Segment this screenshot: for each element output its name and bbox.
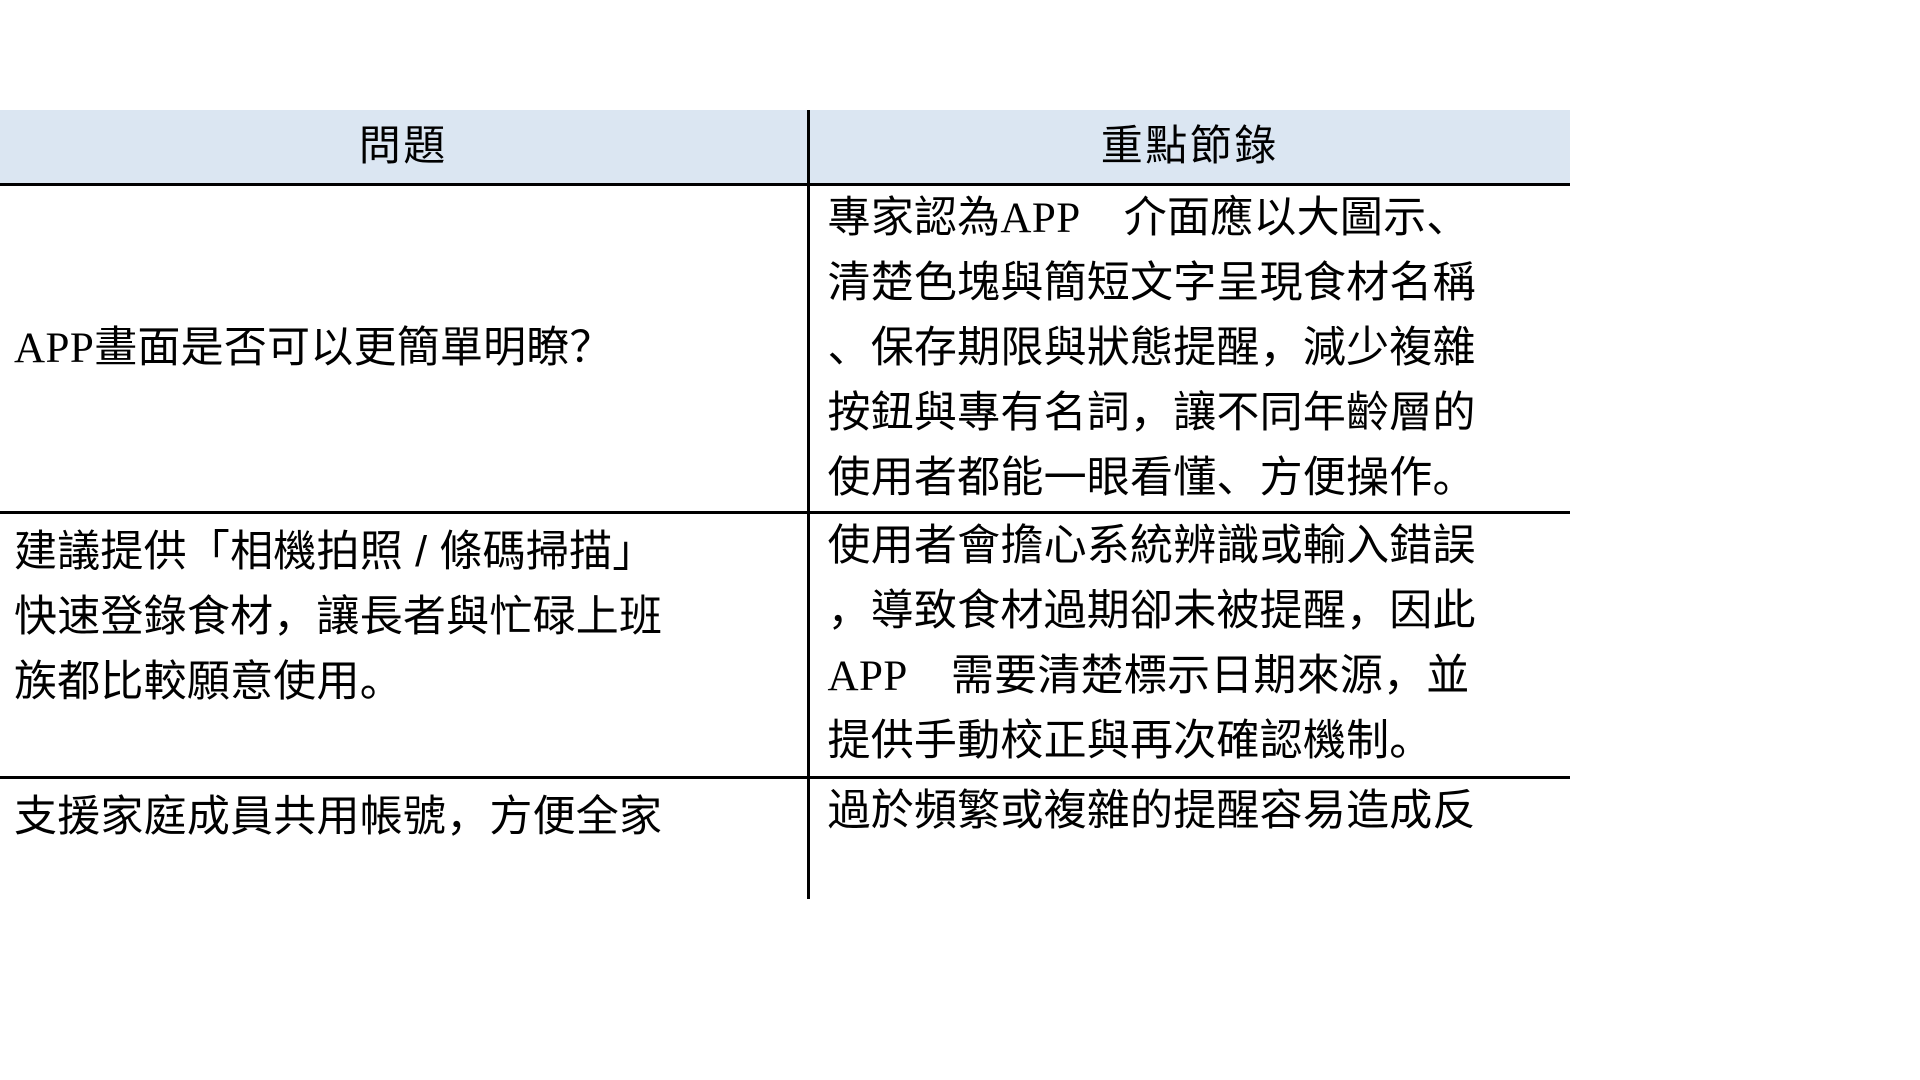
question-1-latin: APP [14,325,94,372]
summary-2-line-3-latin: APP [828,653,908,700]
interview-summary-table: 問題 重點節錄 APP畫面是否可以更簡單明瞭？ 專家認為APP 介面應以大圖示、… [0,110,1570,899]
table-header-row: 問題 重點節錄 [0,110,1570,185]
summary-1-line-3: 、保存期限與狀態提醒，減少複雜 [828,324,1476,372]
summary-1-line-2: 清楚色塊與簡短文字呈現食材名稱 [828,259,1476,307]
cell-question-1: APP畫面是否可以更簡單明瞭？ [0,185,808,513]
summary-2-line-4: 提供手動校正與再次確認機制。 [828,717,1433,765]
question-text-1: APP畫面是否可以更簡單明瞭？ [14,316,801,381]
cell-summary-1: 專家認為APP 介面應以大圖示、清楚色塊與簡短文字呈現食材名稱、保存期限與狀態提… [808,185,1570,513]
summary-1-line-1-b: 介面應以大圖示、 [1081,194,1470,242]
table-row: 支援家庭成員共用帳號，方便全家 過於頻繁或複雜的提醒容易造成反 [0,778,1570,900]
column-header-summary: 重點節錄 [808,110,1570,185]
summary-2-line-1: 使用者會擔心系統辨識或輸入錯誤 [828,522,1476,570]
summary-3-line-1: 過於頻繁或複雜的提醒容易造成反 [828,787,1476,835]
question-2-line-3: 族都比較願意使用。 [14,658,403,706]
cell-summary-2: 使用者會擔心系統辨識或輸入錯誤，導致食材過期卻未被提醒，因此APP 需要清楚標示… [808,513,1570,778]
document-page: 問題 重點節錄 APP畫面是否可以更簡單明瞭？ 專家認為APP 介面應以大圖示、… [0,0,1920,1080]
question-1-cjk: 畫面是否可以更簡單明瞭？ [94,324,613,372]
summary-text-3: 過於頻繁或複雜的提醒容易造成反 [828,779,1588,844]
question-text-3: 支援家庭成員共用帳號，方便全家 [14,779,801,850]
summary-text-2: 使用者會擔心系統辨識或輸入錯誤，導致食材過期卻未被提醒，因此APP 需要清楚標示… [828,514,1588,774]
question-text-2: 建議提供「相機拍照 / 條碼掃描」快速登錄食材，讓長者與忙碌上班族都比較願意使用… [14,514,801,715]
cell-summary-3: 過於頻繁或複雜的提醒容易造成反 [808,778,1570,900]
summary-1-line-1-latin: APP [1000,195,1080,242]
summary-2-line-2: ，導致食材過期卻未被提醒，因此 [828,587,1476,635]
summary-1-line-5: 使用者都能一眼看懂、方便操作。 [828,454,1476,502]
summary-1-line-1-a: 專家認為 [828,194,1001,242]
question-2-line-2: 快速登錄食材，讓長者與忙碌上班 [14,593,662,641]
cell-question-3: 支援家庭成員共用帳號，方便全家 [0,778,808,900]
question-2-line-1: 建議提供「相機拍照 / 條碼掃描」 [14,528,656,576]
question-3-line-1: 支援家庭成員共用帳號，方便全家 [14,793,662,841]
table-row: 建議提供「相機拍照 / 條碼掃描」快速登錄食材，讓長者與忙碌上班族都比較願意使用… [0,513,1570,778]
summary-text-1: 專家認為APP 介面應以大圖示、清楚色塊與簡短文字呈現食材名稱、保存期限與狀態提… [828,186,1588,511]
column-header-summary-label: 重點節錄 [1101,125,1279,169]
column-header-question: 問題 [0,110,808,185]
table-row: APP畫面是否可以更簡單明瞭？ 專家認為APP 介面應以大圖示、清楚色塊與簡短文… [0,185,1570,513]
summary-2-line-3-b: 需要清楚標示日期來源，並 [908,652,1470,700]
cell-question-2: 建議提供「相機拍照 / 條碼掃描」快速登錄食材，讓長者與忙碌上班族都比較願意使用… [0,513,808,778]
summary-1-line-4: 按鈕與專有名詞，讓不同年齡層的 [828,389,1476,437]
column-header-question-label: 問題 [359,125,448,169]
